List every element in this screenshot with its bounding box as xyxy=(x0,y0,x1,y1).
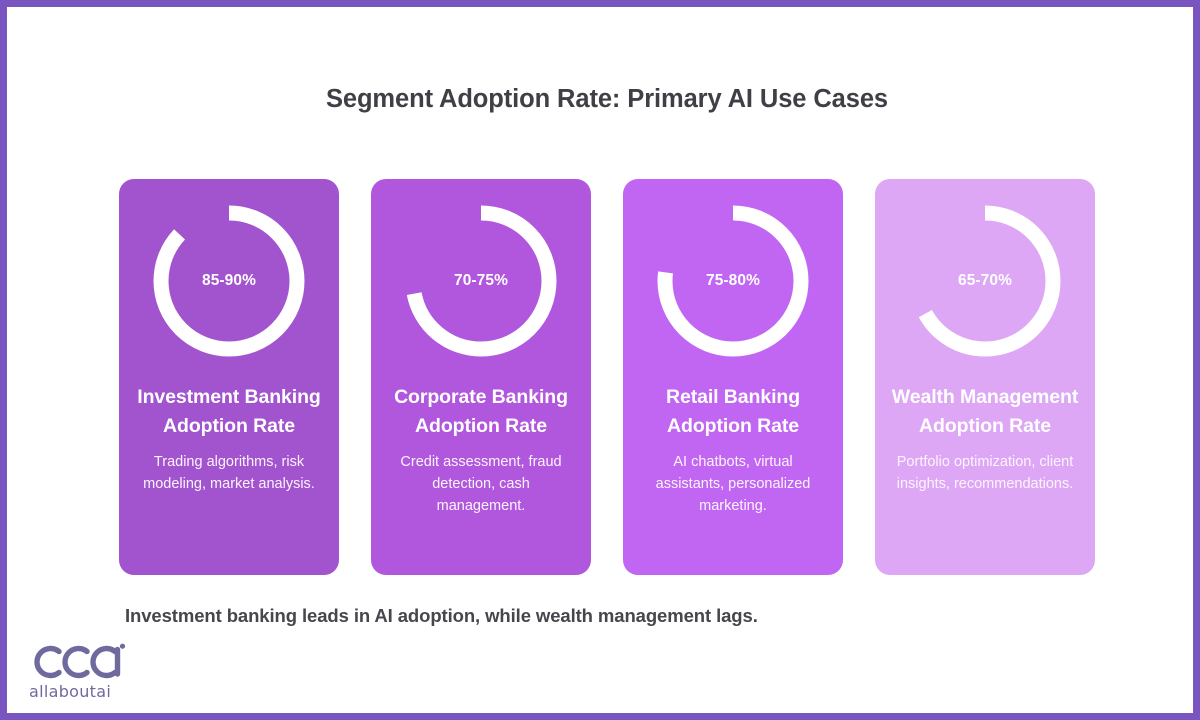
donut-value-label: 75-80% xyxy=(643,191,823,371)
brand-logo[interactable]: allaboutai xyxy=(29,643,149,705)
logo-dot-icon xyxy=(120,644,125,649)
segment-card-title: Retail Banking Adoption Rate xyxy=(638,383,828,440)
segment-card[interactable]: 75-80% Retail Banking Adoption Rate AI c… xyxy=(623,179,843,575)
segment-card[interactable]: 85-90% Investment Banking Adoption Rate … xyxy=(119,179,339,575)
donut-gauge: 75-80% xyxy=(643,191,823,371)
segment-card-description: Trading algorithms, risk modeling, marke… xyxy=(139,451,319,495)
segment-card[interactable]: 65-70% Wealth Management Adoption Rate P… xyxy=(875,179,1095,575)
infographic-canvas: Segment Adoption Rate: Primary AI Use Ca… xyxy=(0,0,1200,720)
segment-card[interactable]: 70-75% Corporate Banking Adoption Rate C… xyxy=(371,179,591,575)
page-title: Segment Adoption Rate: Primary AI Use Ca… xyxy=(7,85,1200,114)
segment-card-description: AI chatbots, virtual assistants, persona… xyxy=(643,451,823,517)
donut-value-label: 85-90% xyxy=(139,191,319,371)
segment-card-title: Corporate Banking Adoption Rate xyxy=(386,383,576,440)
donut-gauge: 65-70% xyxy=(895,191,1075,371)
donut-gauge: 70-75% xyxy=(391,191,571,371)
donut-value-label: 70-75% xyxy=(391,191,571,371)
segment-card-list: 85-90% Investment Banking Adoption Rate … xyxy=(119,179,1095,575)
donut-gauge: 85-90% xyxy=(139,191,319,371)
donut-value-label: 65-70% xyxy=(895,191,1075,371)
segment-card-description: Portfolio optimization, client insights,… xyxy=(895,451,1075,495)
segment-card-title: Investment Banking Adoption Rate xyxy=(134,383,324,440)
segment-card-description: Credit assessment, fraud detection, cash… xyxy=(391,451,571,517)
chart-caption: Investment banking leads in AI adoption,… xyxy=(125,605,758,627)
segment-card-title: Wealth Management Adoption Rate xyxy=(890,383,1080,440)
allaboutai-logo-mark-icon xyxy=(29,643,141,681)
brand-wordmark: allaboutai xyxy=(29,682,149,701)
